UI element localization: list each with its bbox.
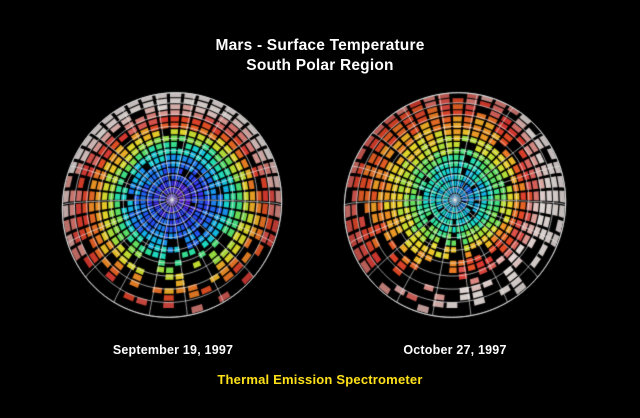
october-globe-canvas bbox=[339, 84, 571, 322]
figure-canvas: Mars - Surface Temperature South Polar R… bbox=[0, 0, 640, 418]
september-globe-canvas bbox=[56, 84, 288, 322]
october-globe bbox=[339, 84, 571, 322]
september-date-label: September 19, 1997 bbox=[63, 343, 283, 357]
october-date-label: October 27, 1997 bbox=[345, 343, 565, 357]
title-line-1: Mars - Surface Temperature bbox=[0, 36, 640, 56]
instrument-credit: Thermal Emission Spectrometer bbox=[0, 372, 640, 387]
september-globe bbox=[56, 84, 288, 322]
title-line-2: South Polar Region bbox=[0, 56, 640, 76]
page-title: Mars - Surface Temperature South Polar R… bbox=[0, 36, 640, 76]
